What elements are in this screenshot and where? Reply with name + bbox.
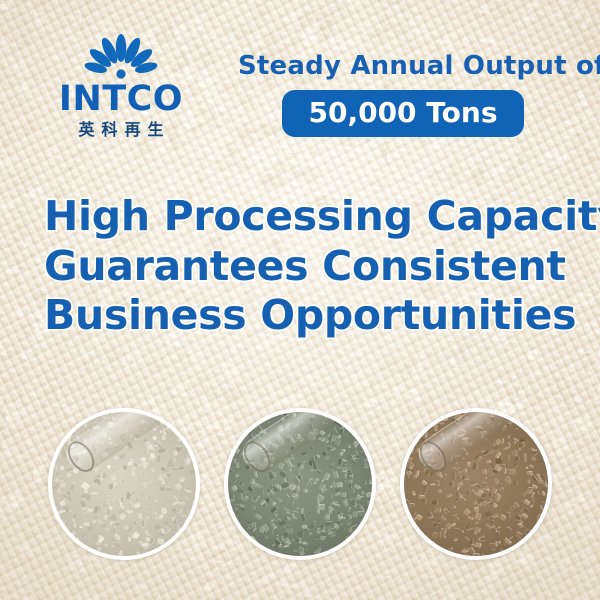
gallery-circle-brown-pellets: [400, 408, 552, 560]
brand-chinese-name: 英科再生: [36, 119, 206, 141]
headline-line-3: Business Opportunities: [44, 291, 574, 341]
output-callout: Steady Annual Output of 50,000 Tons: [238, 52, 568, 137]
headline-line-2: Guarantees Consistent: [44, 242, 574, 292]
output-callout-label: Steady Annual Output of: [238, 52, 568, 81]
output-callout-value-badge: 50,000 Tons: [282, 90, 523, 137]
headline: High Processing Capacity Guarantees Cons…: [44, 192, 574, 341]
intco-burst-logo-icon: [73, 34, 169, 80]
headline-line-1: High Processing Capacity: [44, 192, 574, 242]
gallery-circle-grey-green-pellets: [224, 408, 376, 560]
product-gallery: [0, 408, 600, 568]
poster: INTCO 英科再生 Steady Annual Output of 50,00…: [0, 0, 600, 600]
gallery-circle-clear-pellets: [48, 408, 200, 560]
brand-logo: INTCO 英科再生: [36, 34, 206, 141]
brand-wordmark: INTCO: [36, 82, 206, 117]
